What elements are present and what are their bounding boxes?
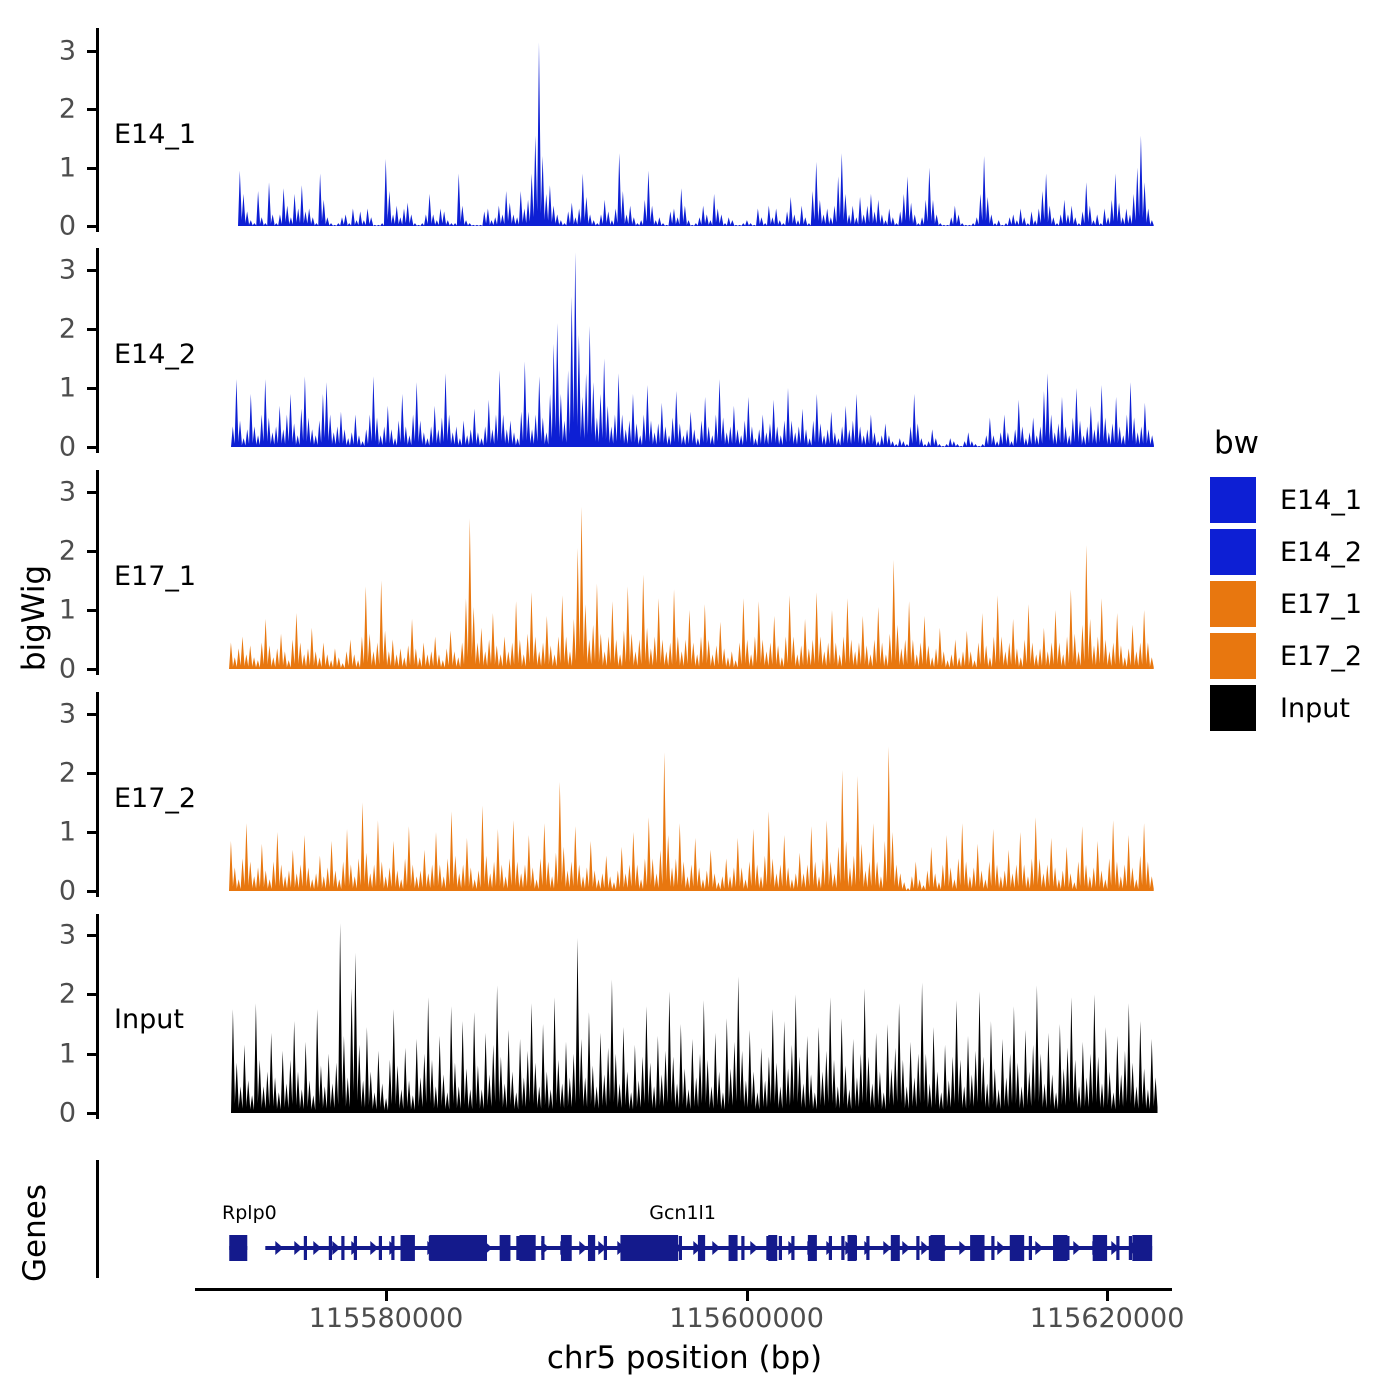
y-tick-label: 2	[34, 758, 76, 789]
y-tick	[87, 387, 96, 390]
y-tick-label: 3	[34, 255, 76, 286]
gene-exon	[729, 1235, 738, 1261]
y-tick-label: 0	[34, 876, 76, 907]
track-panel-e14_1: 0123E14_1	[96, 28, 1176, 232]
gene-exon	[1141, 1236, 1144, 1260]
gene-strand-arrow	[997, 1241, 1005, 1255]
gene-exon	[604, 1236, 607, 1260]
legend-label: E14_2	[1280, 537, 1362, 568]
genes-panel: Rplp0Gcn1l1	[96, 1160, 1176, 1280]
gene-exon	[768, 1235, 777, 1261]
gene-exon	[791, 1236, 794, 1260]
legend-item-e14_1[interactable]: E14_1	[1210, 477, 1362, 523]
gene-exon	[354, 1236, 357, 1260]
gene-exon	[329, 1236, 332, 1260]
x-tick-label: 115600000	[669, 1303, 824, 1334]
coverage-area	[229, 507, 1154, 669]
legend-swatch	[1210, 477, 1256, 523]
y-tick-label: 2	[34, 314, 76, 345]
panel-axis-line	[96, 248, 99, 453]
y-tick	[87, 934, 96, 937]
x-tick	[1106, 1291, 1109, 1301]
gene-exon	[679, 1236, 682, 1260]
figure-root: bigWig Genes 0123E14_10123E14_20123E17_1…	[0, 0, 1400, 1400]
y-tick-label: 0	[34, 1098, 76, 1129]
y-tick	[87, 1053, 96, 1056]
panel-axis-line	[96, 28, 99, 232]
legend-item-e17_1[interactable]: E17_1	[1210, 581, 1362, 627]
panel-axis-line	[96, 470, 99, 675]
gene-strand-arrow	[1073, 1241, 1081, 1255]
gene-exon	[441, 1236, 444, 1260]
gene-strand-arrow	[712, 1241, 720, 1255]
gene-exon	[841, 1236, 844, 1260]
y-tick-label: 1	[34, 152, 76, 183]
y-tick	[87, 993, 96, 996]
gene-exon	[741, 1236, 744, 1260]
track-panel-e17_2: 0123E17_2	[96, 692, 1176, 897]
gene-exon	[519, 1235, 535, 1261]
gene-exon	[429, 1236, 432, 1260]
track-label-input: Input	[114, 1004, 184, 1035]
gene-exon	[866, 1236, 869, 1260]
y-tick	[87, 446, 96, 449]
legend-swatch	[1210, 685, 1256, 731]
gene-exon	[1093, 1235, 1107, 1261]
coverage-area	[229, 746, 1154, 891]
panel-axis-line	[96, 914, 99, 1119]
gene-exon	[429, 1235, 487, 1261]
gene-exon	[516, 1236, 519, 1260]
legend-label: Input	[1280, 693, 1350, 724]
y-tick-label: 1	[34, 1038, 76, 1069]
y-tick	[87, 50, 96, 53]
track-label-e14_2: E14_2	[114, 339, 196, 370]
gene-strand-arrow	[959, 1241, 967, 1255]
gene-exon	[698, 1235, 705, 1261]
track-panel-input: 0123Input	[96, 914, 1176, 1119]
legend-swatch	[1210, 581, 1256, 627]
y-axis-title-genes: Genes	[17, 1183, 53, 1283]
x-axis-line	[195, 1288, 1172, 1291]
gene-exon	[541, 1236, 544, 1260]
gene-exon	[588, 1235, 595, 1261]
gene-exon	[304, 1236, 307, 1260]
y-tick-label: 0	[34, 654, 76, 685]
y-tick	[87, 269, 96, 272]
gene-exon	[666, 1236, 669, 1260]
y-tick	[87, 668, 96, 671]
gene-exon	[779, 1236, 782, 1260]
y-tick	[87, 609, 96, 612]
x-tick-label: 115620000	[1030, 1303, 1185, 1334]
gene-strand-arrow	[921, 1241, 929, 1255]
gene-strand-arrow	[579, 1241, 587, 1255]
gene-strand-arrow	[332, 1241, 340, 1255]
gene-exon	[970, 1235, 984, 1261]
legend-item-e17_2[interactable]: E17_2	[1210, 633, 1362, 679]
y-tick	[87, 1112, 96, 1115]
gene-exon	[1016, 1236, 1019, 1260]
gene-exon	[829, 1236, 832, 1260]
legend-swatch	[1210, 529, 1256, 575]
track-label-e17_2: E17_2	[114, 783, 196, 814]
legend-label: E14_1	[1280, 485, 1362, 516]
gene-label-gcn1l1: Gcn1l1	[649, 1202, 716, 1224]
gene-strand-arrow	[294, 1241, 302, 1255]
gene-strand-arrow	[370, 1241, 378, 1255]
gene-exon	[341, 1236, 344, 1260]
gene-exon	[1053, 1235, 1067, 1261]
y-tick	[87, 108, 96, 111]
y-tick	[87, 491, 96, 494]
gene-exon	[454, 1236, 457, 1260]
gene-label-rplp0: Rplp0	[222, 1202, 277, 1224]
track-panel-e14_2: 0123E14_2	[96, 248, 1176, 453]
gene-strand-arrow	[883, 1241, 891, 1255]
y-tick	[87, 772, 96, 775]
gene-strand-arrow	[313, 1241, 321, 1255]
coverage-area	[238, 42, 1154, 226]
y-tick-label: 2	[34, 94, 76, 125]
y-tick-label: 1	[34, 373, 76, 404]
gene-exon	[929, 1236, 932, 1260]
legend-item-e14_2[interactable]: E14_2	[1210, 529, 1362, 575]
y-tick-label: 0	[34, 432, 76, 463]
gene-exon	[400, 1235, 414, 1261]
gene-exon	[391, 1236, 394, 1260]
coverage-area	[231, 923, 1158, 1113]
gene-exon	[854, 1236, 857, 1260]
gene-exon	[1116, 1236, 1119, 1260]
y-tick-label: 1	[34, 595, 76, 626]
y-tick-label: 0	[34, 211, 76, 242]
gene-exon	[991, 1236, 994, 1260]
gene-exon	[504, 1236, 507, 1260]
gene-exon	[379, 1236, 382, 1260]
panel-axis-line	[96, 692, 99, 897]
gene-strand-arrow	[275, 1241, 283, 1255]
y-tick-label: 3	[34, 699, 76, 730]
gene-exon	[629, 1236, 632, 1260]
y-tick	[87, 831, 96, 834]
gene-exon	[916, 1236, 919, 1260]
gene-exon	[229, 1235, 247, 1261]
gene-exon	[891, 1236, 894, 1260]
y-tick-label: 1	[34, 817, 76, 848]
y-tick	[87, 328, 96, 331]
y-tick-label: 3	[34, 920, 76, 951]
legend: bw E14_1E14_2E17_1E17_2Input	[1210, 425, 1390, 705]
y-tick-label: 3	[34, 477, 76, 508]
y-tick	[87, 890, 96, 893]
legend-label: E17_2	[1280, 641, 1362, 672]
track-panel-e17_1: 0123E17_1	[96, 470, 1176, 675]
gene-strand-arrow	[1035, 1241, 1043, 1255]
y-tick	[87, 550, 96, 553]
track-label-e17_1: E17_1	[114, 561, 196, 592]
legend-title: bw	[1214, 425, 1259, 461]
y-tick	[87, 167, 96, 170]
y-tick	[87, 713, 96, 716]
y-tick	[87, 225, 96, 228]
gene-strand-arrow	[902, 1241, 910, 1255]
gene-exon	[1029, 1236, 1032, 1260]
coverage-area	[231, 252, 1154, 447]
gene-exon	[930, 1235, 944, 1261]
gene-exon	[404, 1236, 407, 1260]
gene-exon	[1066, 1236, 1069, 1260]
track-area-e17_2	[229, 692, 1154, 893]
y-tick-label: 2	[34, 979, 76, 1010]
track-area-e17_1	[229, 470, 1154, 671]
gene-exon	[566, 1236, 569, 1260]
y-tick-label: 3	[34, 36, 76, 67]
x-tick	[746, 1291, 749, 1301]
gene-strand-arrow	[750, 1241, 758, 1255]
track-area-e14_2	[231, 248, 1154, 449]
legend-label: E17_1	[1280, 589, 1362, 620]
gene-exon	[808, 1235, 817, 1261]
y-tick-label: 2	[34, 536, 76, 567]
legend-item-input[interactable]: Input	[1210, 685, 1350, 731]
legend-swatch	[1210, 633, 1256, 679]
x-axis-title: chr5 position (bp)	[196, 1340, 1173, 1376]
gene-exon	[466, 1236, 469, 1260]
x-tick-label: 115580000	[309, 1303, 464, 1334]
gene-exon	[1129, 1236, 1132, 1260]
track-label-e14_1: E14_1	[114, 119, 196, 150]
x-tick	[385, 1291, 388, 1301]
track-area-e14_1	[238, 28, 1154, 228]
gene-exon	[766, 1236, 769, 1260]
track-area-input	[231, 914, 1158, 1115]
